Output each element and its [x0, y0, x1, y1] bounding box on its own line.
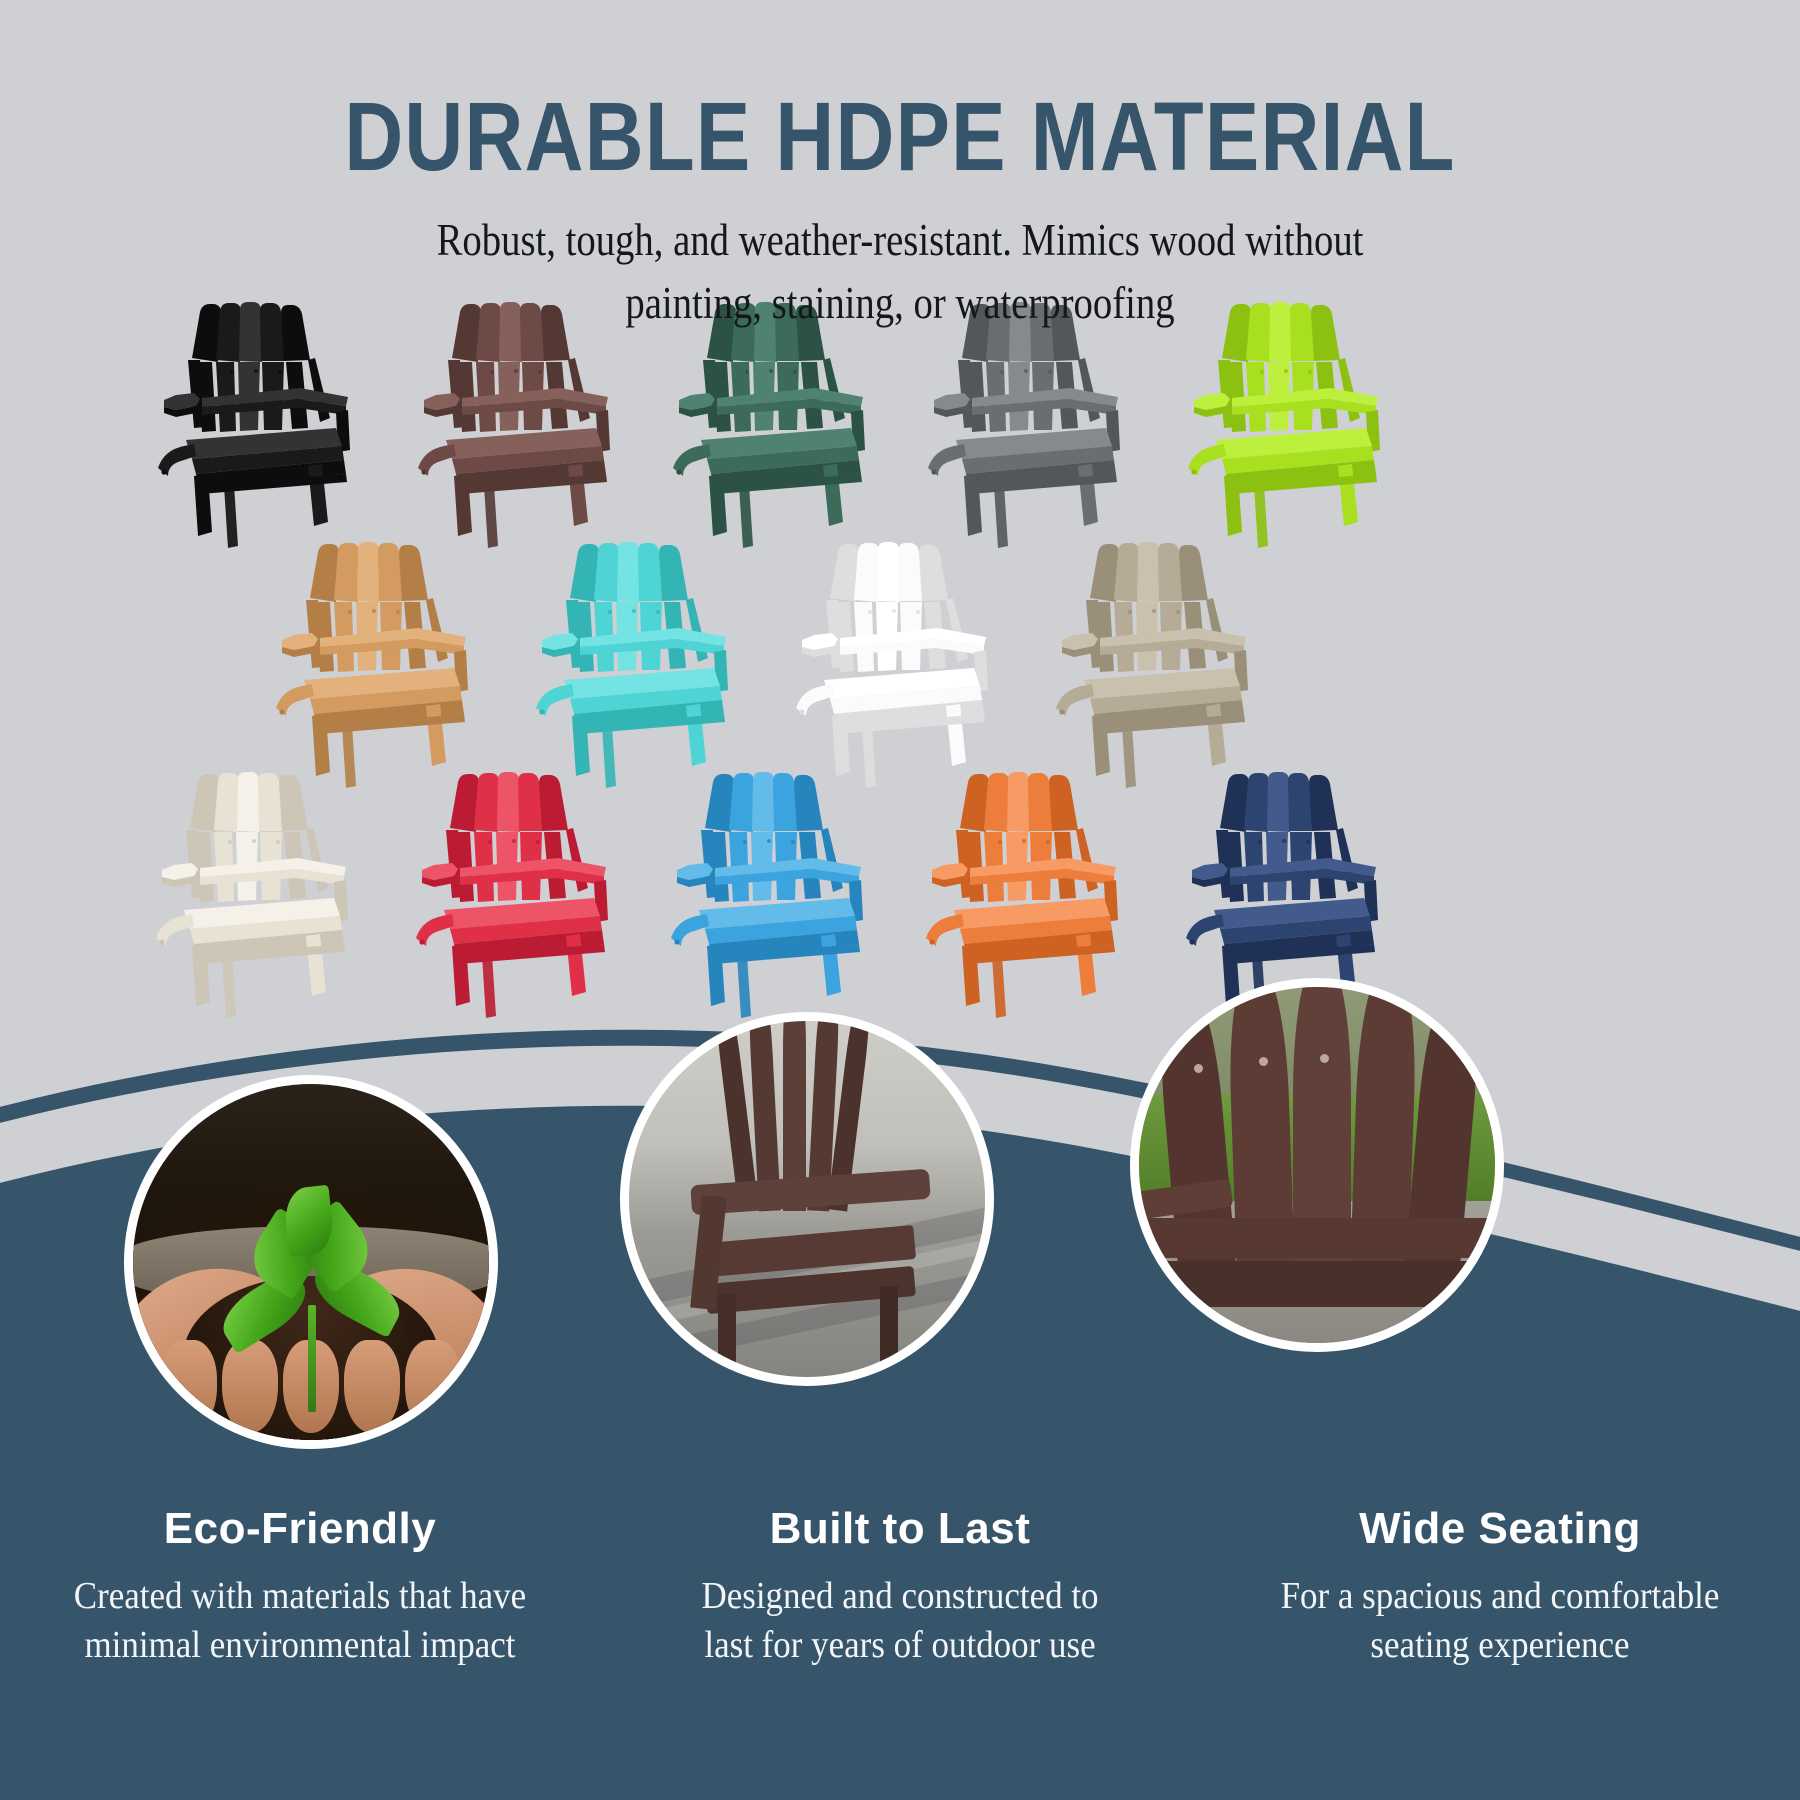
chair-teak [268, 540, 518, 790]
chair-swatch-gray[interactable] [920, 300, 1170, 550]
hands-holding-seedling-photo [133, 1084, 489, 1440]
chair-swatch-green[interactable] [665, 300, 915, 550]
chair-illustration [410, 300, 660, 550]
page-subtitle-line-2: painting, staining, or waterproofing [126, 274, 1674, 333]
feature-title: Wide Seating [1222, 1504, 1778, 1554]
chair-illustration [663, 770, 913, 1020]
chair-beige [1048, 540, 1298, 790]
chair-row [0, 300, 1800, 550]
chair-swatch-orange[interactable] [918, 770, 1168, 1020]
plant-stem-shape [308, 1305, 316, 1412]
chair-illustration [665, 300, 915, 550]
chair-backrest [570, 542, 688, 602]
chair-illustration [268, 540, 518, 790]
chair-lime [1180, 300, 1430, 550]
chair-backrest [960, 772, 1078, 832]
feature-description: For a spacious and comfortable seating e… [1244, 1572, 1756, 1671]
chair-illustration [408, 770, 658, 1020]
chair-swatch-blue[interactable] [663, 770, 913, 1020]
chair-green [665, 300, 915, 550]
feature-list: Eco-Friendly Created with materials that… [0, 1504, 1800, 1671]
patio-chair-shape [686, 1012, 935, 1377]
chair-turquoise [528, 540, 778, 790]
feature-item-wide-seating: Wide Seating For a spacious and comforta… [1200, 1504, 1800, 1671]
chair-black [150, 300, 400, 550]
chair-orange [918, 770, 1168, 1020]
feature-title: Built to Last [622, 1504, 1178, 1554]
chair-illustration [150, 300, 400, 550]
chair-backrest [310, 542, 428, 602]
header-block: DURABLE HDPE MATERIAL Robust, tough, and… [0, 0, 1800, 334]
chair-ivory [148, 770, 398, 1020]
chair-swatch-red[interactable] [408, 770, 658, 1020]
chair-swatch-turquoise[interactable] [528, 540, 778, 790]
chair-illustration [918, 770, 1168, 1020]
chair-color-grid [0, 300, 1800, 1040]
chair-row [0, 540, 1800, 790]
chair-illustration [920, 300, 1170, 550]
chair-swatch-white[interactable] [788, 540, 1038, 790]
chair-illustration [1048, 540, 1298, 790]
feature-item-built-to-last: Built to Last Designed and constructed t… [600, 1504, 1200, 1671]
chair-blue [663, 770, 913, 1020]
chair-swatch-ivory[interactable] [148, 770, 398, 1020]
chair-swatch-teak[interactable] [268, 540, 518, 790]
page-subtitle-line-1: Robust, tough, and weather-resistant. Mi… [126, 211, 1674, 270]
feature-description: Designed and constructed to last for yea… [644, 1572, 1156, 1671]
chair-backrest [450, 772, 568, 832]
feature-description: Created with materials that have minimal… [44, 1572, 556, 1671]
infographic-canvas: DURABLE HDPE MATERIAL Robust, tough, and… [0, 0, 1800, 1800]
chair-swatch-beige[interactable] [1048, 540, 1298, 790]
chair-red [408, 770, 658, 1020]
page-title: DURABLE HDPE MATERIAL [144, 88, 1656, 185]
chair-backrest [190, 772, 308, 832]
chair-illustration [1180, 300, 1430, 550]
chair-swatch-lime[interactable] [1180, 300, 1430, 550]
chair-row [0, 770, 1800, 1020]
chair-backrest [1090, 542, 1208, 602]
chair-gray [920, 300, 1170, 550]
chair-brown [410, 300, 660, 550]
wide-seating-photo-circle[interactable] [1130, 978, 1504, 1352]
brown-chair-on-patio-photo [629, 1021, 985, 1377]
eco-friendly-photo-circle[interactable] [124, 1075, 498, 1449]
chair-backrest [1220, 772, 1338, 832]
feature-item-eco-friendly: Eco-Friendly Created with materials that… [0, 1504, 600, 1671]
chair-backrest [830, 542, 948, 602]
feature-title: Eco-Friendly [22, 1504, 578, 1554]
chair-illustration [788, 540, 1038, 790]
chair-white [788, 540, 1038, 790]
chair-swatch-black[interactable] [150, 300, 400, 550]
built-to-last-photo-circle[interactable] [620, 1012, 994, 1386]
chair-illustration [528, 540, 778, 790]
chair-swatch-brown[interactable] [410, 300, 660, 550]
chair-backrest [705, 772, 823, 832]
chair-backrest-closeup-photo [1139, 987, 1495, 1343]
chair-illustration [148, 770, 398, 1020]
